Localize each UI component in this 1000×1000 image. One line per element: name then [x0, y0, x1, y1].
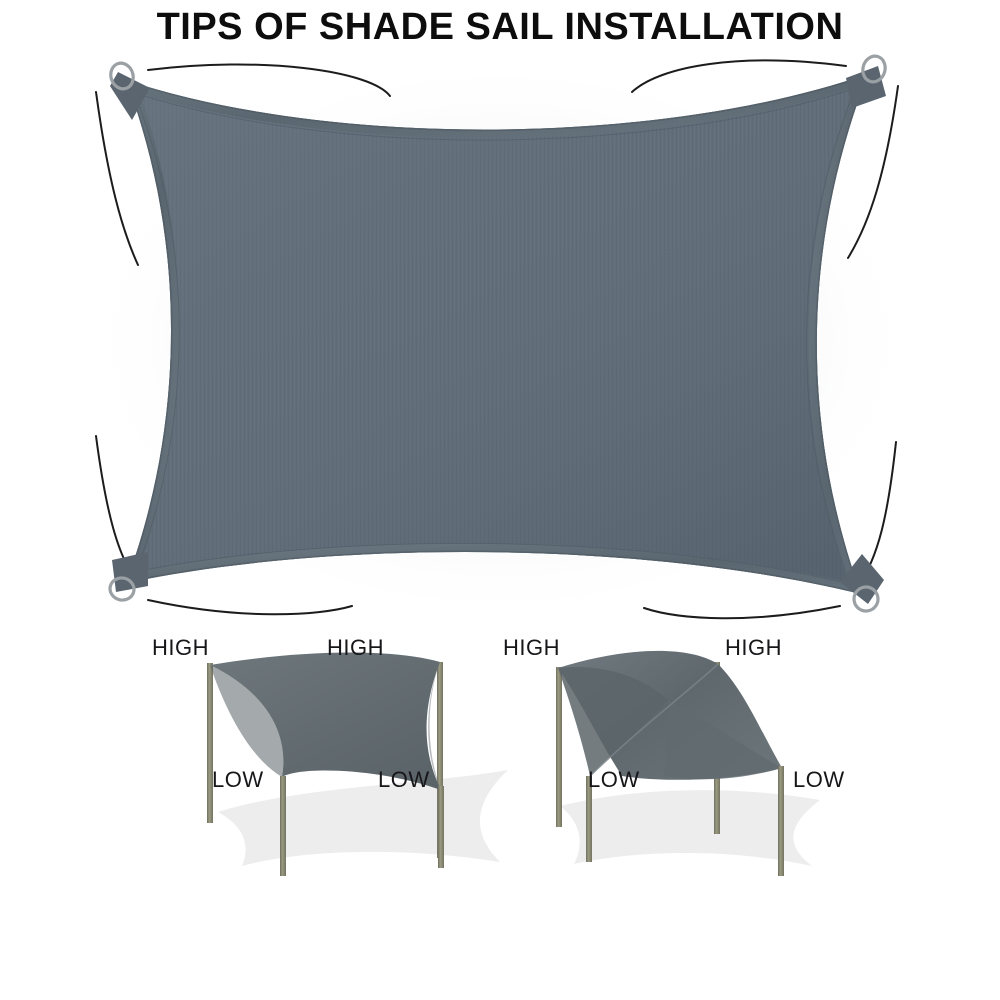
webbing-top-right: [846, 66, 886, 108]
post-high-left-right-diagram: [556, 667, 562, 827]
post-low-right: [438, 786, 444, 868]
diagram-flat-tilt: HIGH HIGH LOW LOW: [152, 635, 508, 876]
label-low-left: LOW: [212, 767, 264, 792]
post-low-right-right-diagram: [778, 766, 784, 876]
label-high-left-2: HIGH: [503, 635, 560, 660]
label-high-left: HIGH: [152, 635, 209, 660]
label-low-right: LOW: [378, 767, 430, 792]
label-high-right-2: HIGH: [725, 635, 782, 660]
post-high-left: [207, 663, 213, 823]
guide-line-bottom-left-outer: [148, 600, 352, 614]
label-high-right: HIGH: [327, 635, 384, 660]
sail-shading: [126, 74, 868, 594]
diagram-hypar-twist: HIGH HIGH LOW LOW: [503, 635, 845, 876]
webbing-bottom-left: [112, 552, 148, 592]
illustration-stage: HIGH HIGH LOW LOW: [0, 0, 1000, 1000]
product-instruction-image: TIPS OF SHADE SAIL INSTALLATION: [0, 0, 1000, 1000]
post-low-left: [280, 776, 286, 876]
label-low-right-2: LOW: [793, 767, 845, 792]
main-shade-sail: [108, 53, 889, 612]
guide-line-bottom-right-outer: [644, 606, 840, 618]
label-low-left-2: LOW: [588, 767, 640, 792]
